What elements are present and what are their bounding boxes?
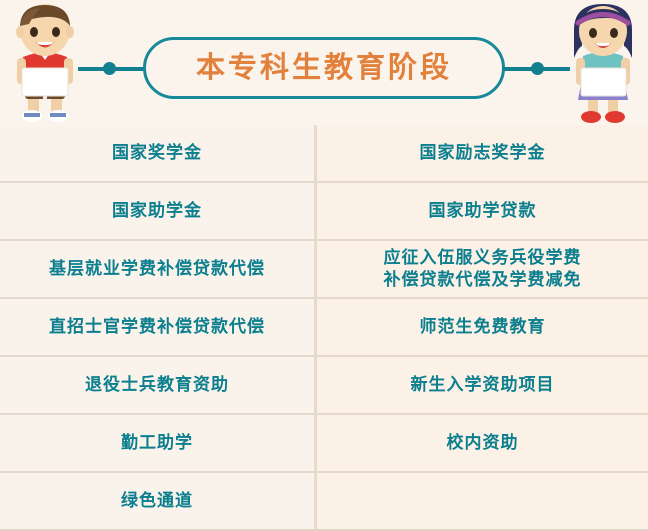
table-cell-left[interactable]: 勤工助学 (0, 415, 317, 471)
boy-student-icon (0, 0, 90, 126)
table-cell-right[interactable]: 国家励志奖学金 (317, 125, 648, 181)
table-cell-right-empty (317, 473, 648, 529)
table-row: 退役士兵教育资助 新生入学资助项目 (0, 357, 648, 415)
connector-dot-right (531, 62, 544, 75)
table-cell-right[interactable]: 新生入学资助项目 (317, 357, 648, 413)
table-cell-line-1: 应征入伍服义务兵役学费 (384, 247, 582, 269)
policy-table: 国家奖学金 国家励志奖学金 国家助学金 国家助学贷款 基层就业学费补偿贷款代偿 … (0, 125, 648, 531)
table-row: 勤工助学 校内资助 (0, 415, 648, 473)
girl-student-icon (558, 0, 648, 126)
page-title: 本专科生教育阶段 (196, 54, 452, 83)
infographic-page: 本专科生教育阶段 (0, 0, 648, 531)
table-row: 基层就业学费补偿贷款代偿 应征入伍服义务兵役学费 补偿贷款代偿及学费减免 (0, 241, 648, 299)
table-cell-right[interactable]: 应征入伍服义务兵役学费 补偿贷款代偿及学费减免 (317, 241, 648, 297)
table-row: 直招士官学费补偿贷款代偿 师范生免费教育 (0, 299, 648, 357)
table-cell-line-2: 补偿贷款代偿及学费减免 (384, 269, 582, 291)
table-row: 国家奖学金 国家励志奖学金 (0, 125, 648, 183)
table-cell-left[interactable]: 国家奖学金 (0, 125, 317, 181)
table-cell-left[interactable]: 国家助学金 (0, 183, 317, 239)
table-cell-left[interactable]: 基层就业学费补偿贷款代偿 (0, 241, 317, 297)
table-cell-left[interactable]: 退役士兵教育资助 (0, 357, 317, 413)
header-band: 本专科生教育阶段 (0, 0, 648, 125)
table-cell-right[interactable]: 国家助学贷款 (317, 183, 648, 239)
connector-dot-left (103, 62, 116, 75)
table-cell-left[interactable]: 直招士官学费补偿贷款代偿 (0, 299, 317, 355)
table-cell-left[interactable]: 绿色通道 (0, 473, 317, 529)
table-row: 绿色通道 (0, 473, 648, 531)
table-cell-right[interactable]: 校内资助 (317, 415, 648, 471)
title-pill: 本专科生教育阶段 (143, 37, 505, 99)
table-row: 国家助学金 国家助学贷款 (0, 183, 648, 241)
table-cell-right[interactable]: 师范生免费教育 (317, 299, 648, 355)
